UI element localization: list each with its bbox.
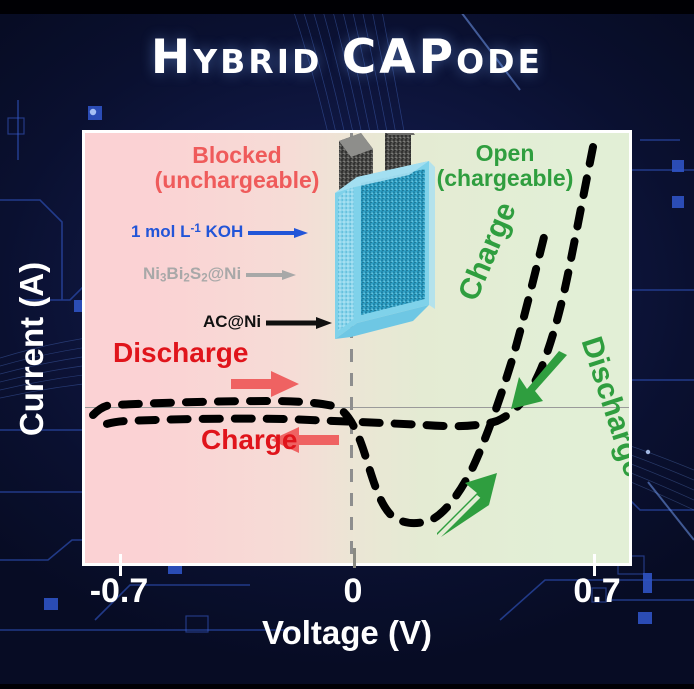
left-discharge-label: Discharge	[113, 338, 248, 368]
electrolyte-label-post: KOH	[201, 222, 244, 241]
electrolyte-label-pre: 1 mol L	[131, 222, 191, 241]
left-charge-label: Charge	[201, 425, 297, 455]
page-title: Hybrid CAPode	[0, 30, 694, 85]
electrolyte-label-sup: -1	[191, 223, 201, 235]
electrolyte-pointer-arrow	[248, 227, 308, 239]
x-tick-zero	[353, 548, 356, 568]
open-line1: Open	[476, 140, 535, 166]
x-ticklabel-neg07: -0.7	[59, 572, 179, 611]
top-letterbox-bar	[0, 0, 694, 14]
plot-frame: Blocked (unchargeable) Open (chargeable)…	[82, 130, 632, 566]
x-axis-title: Voltage (V)	[0, 614, 694, 652]
blocked-line2: (unchargeable)	[155, 167, 320, 193]
electrolyte-label: 1 mol L-1 KOH	[131, 223, 308, 241]
x-ticklabel-pos07: 0.7	[537, 572, 657, 611]
discharge-arrow-green	[511, 351, 567, 409]
plot-area: Blocked (unchargeable) Open (chargeable)…	[85, 133, 629, 563]
discharge-arrow-red	[231, 371, 299, 397]
positive-electrode-label: Ni3Bi2S2@Ni	[143, 265, 296, 285]
negative-electrode-label: AC@Ni	[203, 313, 332, 331]
open-line2: (chargeable)	[437, 165, 574, 191]
x-ticklabel-zero: 0	[313, 572, 393, 611]
graphical-abstract: Hybrid CAPode	[0, 0, 694, 689]
blocked-line1: Blocked	[192, 142, 281, 168]
negative-electrode-pointer-arrow	[266, 317, 332, 329]
bottom-letterbox-bar	[0, 684, 694, 689]
negative-electrode-label-text: AC@Ni	[203, 312, 261, 331]
y-axis-title: Current (A)	[13, 219, 51, 479]
blocked-region-label: Blocked (unchargeable)	[129, 143, 345, 193]
open-region-label: Open (chargeable)	[415, 141, 595, 191]
positive-electrode-pointer-arrow	[246, 269, 296, 281]
